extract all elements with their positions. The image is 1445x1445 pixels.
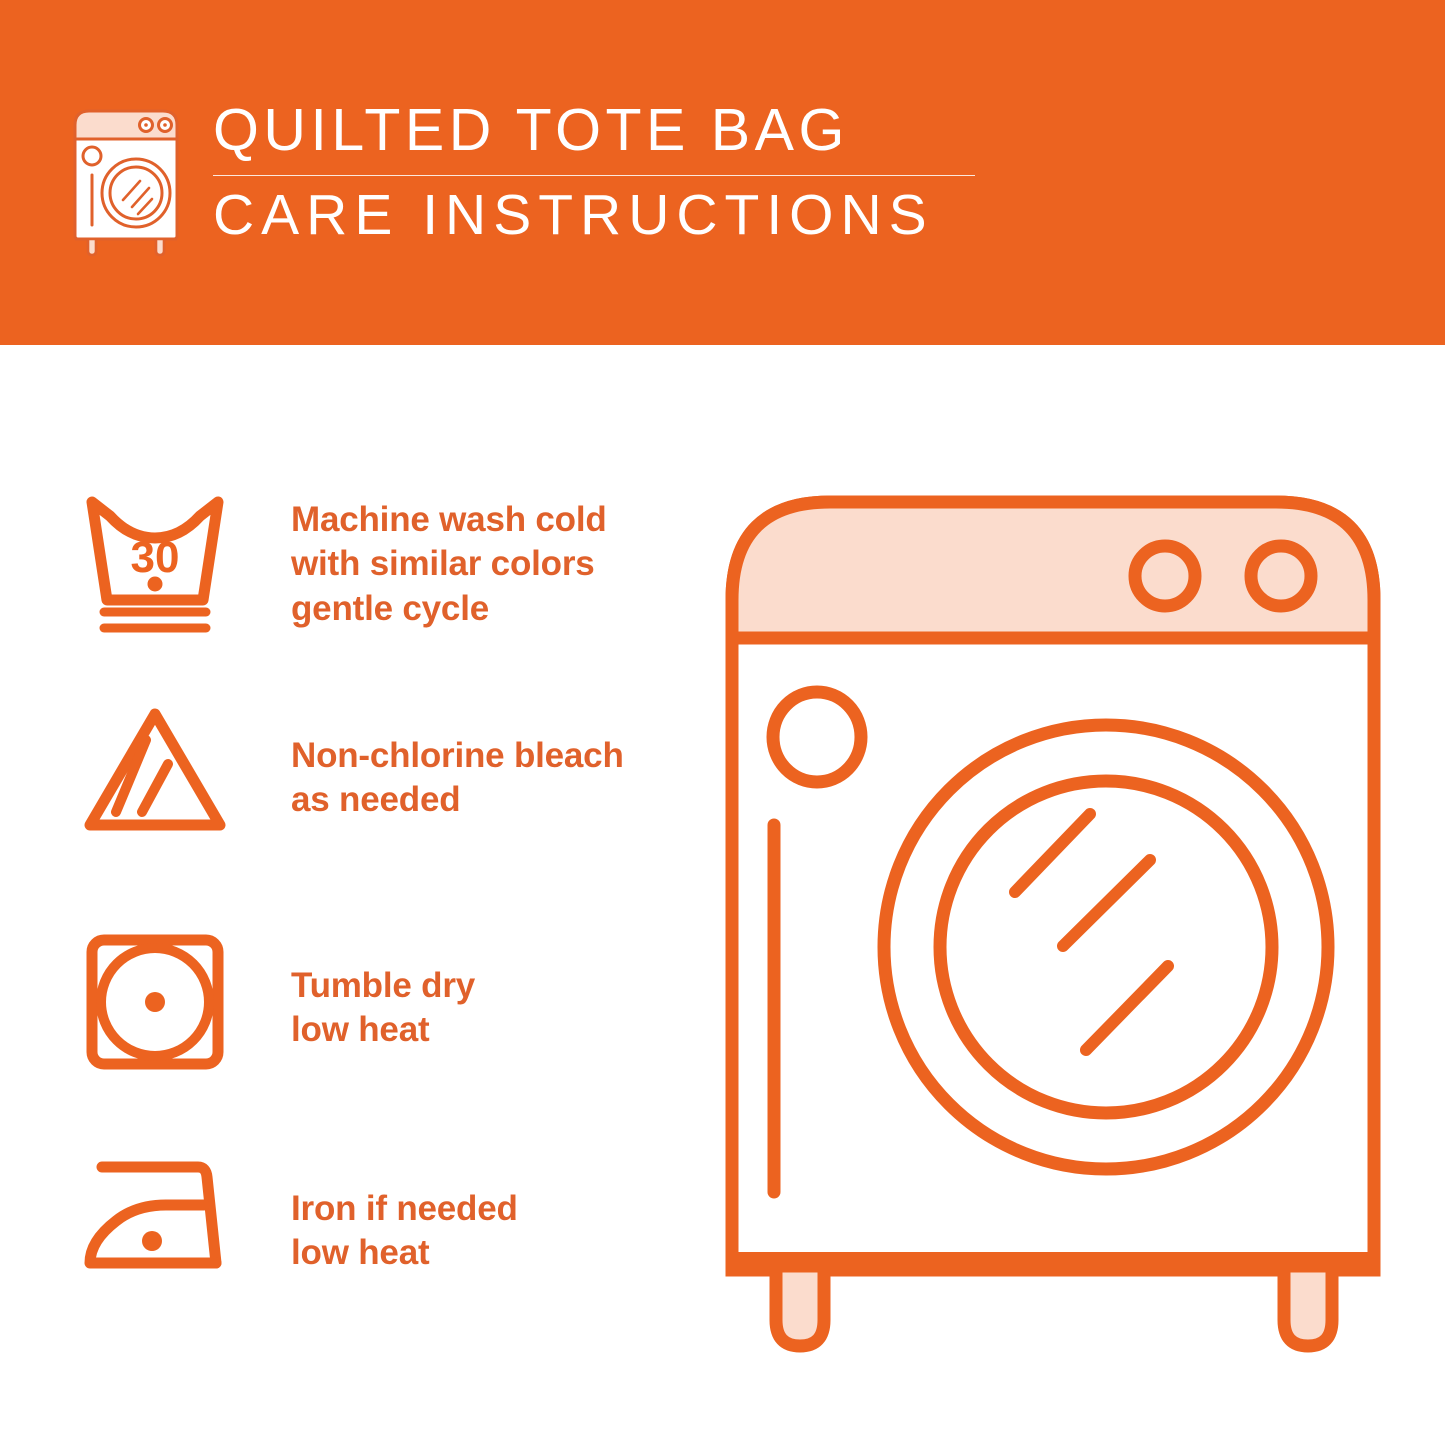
non-chlorine-bleach-icon [70,692,240,852]
knob-right [1251,546,1311,606]
care-label-wash-line1: Machine wash cold [291,498,607,542]
care-label-wash: Machine wash cold with similar colors ge… [291,498,607,631]
iron-low-heat-icon [70,1145,240,1305]
leg-left [776,1266,824,1346]
washing-machine-illustration [718,480,1388,1370]
care-instructions-page: QUILTED TOTE BAG CARE INSTRUCTIONS 30 [0,0,1445,1445]
care-row-tumble-dry: Tumble dry low heat [0,922,700,1092]
machine-wash-30-gentle-icon: 30 [70,480,240,640]
care-label-wash-line3: gentle cycle [291,587,607,631]
page-subtitle: CARE INSTRUCTIONS [213,186,993,246]
care-label-tumble-dry-line2: low heat [291,1008,475,1052]
care-label-iron-line2: low heat [291,1231,518,1275]
detergent-dispenser [773,692,861,782]
header-text-block: QUILTED TOTE BAG CARE INSTRUCTIONS [213,100,993,246]
care-label-bleach-line1: Non-chlorine bleach [291,734,624,778]
care-label-iron-line1: Iron if needed [291,1187,518,1231]
washing-machine-icon [68,105,184,257]
drum-door-inner [940,781,1272,1113]
title-divider [213,175,975,176]
header-banner: QUILTED TOTE BAG CARE INSTRUCTIONS [0,0,1445,345]
page-title: QUILTED TOTE BAG [213,100,993,162]
wash-temp-value: 30 [131,533,180,582]
care-row-iron: Iron if needed low heat [0,1145,700,1315]
leg-right [1284,1266,1332,1346]
care-row-wash: 30 Machine wash cold with similar colors… [0,480,700,650]
care-label-iron: Iron if needed low heat [291,1187,518,1276]
care-label-tumble-dry-line1: Tumble dry [291,964,475,1008]
care-label-bleach-line2: as needed [291,778,624,822]
care-label-bleach: Non-chlorine bleach as needed [291,734,624,823]
care-label-tumble-dry: Tumble dry low heat [291,964,475,1053]
care-label-wash-line2: with similar colors [291,542,607,586]
tumble-dry-low-icon [70,922,240,1082]
knob-left [1135,546,1195,606]
care-row-bleach: Non-chlorine bleach as needed [0,692,700,862]
